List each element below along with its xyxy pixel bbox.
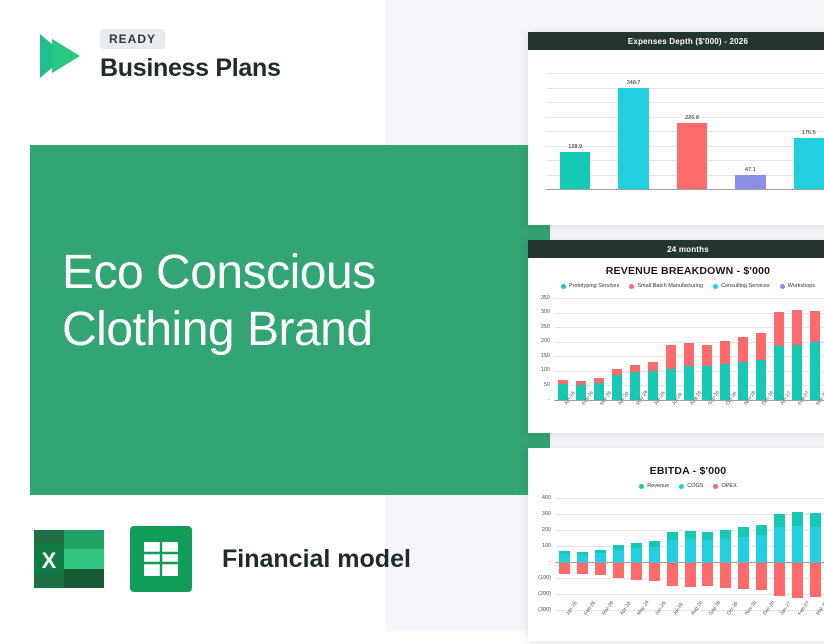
chart3-x-tick: May-26 [636, 599, 650, 616]
chart2-bar-segment [720, 364, 731, 400]
legend-swatch-opex [713, 484, 718, 489]
chart2-y-tick: 50 [528, 382, 550, 388]
chart3-bar-revenue-cap [613, 545, 624, 550]
chart2-y-tick: 200 [528, 338, 550, 344]
chart2-y-tick: 250 [528, 324, 550, 330]
chart2-bar-segment [810, 311, 821, 342]
chart3-y-tick: (300) [528, 607, 551, 613]
chart1-bar [618, 88, 648, 189]
chart3-legend-item: COGS [679, 483, 703, 489]
chart3-bar-negative [667, 562, 678, 586]
legend-swatch-cogs [679, 484, 684, 489]
chart3-bar-revenue-cap [792, 512, 803, 526]
chart1-gridline [546, 102, 824, 103]
chart2-bar-segment [756, 333, 767, 360]
chart1-x-axis [546, 189, 824, 190]
chart3-bar-negative [720, 562, 731, 588]
chart3-bar-negative [685, 562, 696, 587]
svg-text:X: X [42, 548, 57, 573]
chart2-gridline [554, 298, 824, 299]
chart3-x-tick: Apr-26 [619, 601, 633, 617]
chart2-y-tick: 300 [528, 309, 550, 315]
chart3-bar-negative [774, 562, 785, 596]
chart3-y-tick: 400 [528, 495, 551, 501]
chart3-x-tick: Mar-27 [815, 600, 824, 616]
chart2-bar-segment [702, 366, 713, 400]
chart2-bar-segment [684, 343, 695, 366]
chart1-title-bar: Expenses Depth ($'000) - 2026 [528, 32, 824, 50]
chart3-legend-item: OPEX [713, 483, 736, 489]
chart3-plot-area: 400300200100-(100)(200)(300)Jan-26Feb-26… [528, 494, 824, 644]
chart2-bar-segment [774, 312, 785, 346]
chart2-y-tick: 100 [528, 367, 550, 373]
chart3-bar-revenue-cap [774, 514, 785, 528]
footer-row: X Financial model [30, 520, 411, 598]
brand-text-block: READY Business Plans [100, 29, 281, 83]
chart2-bar-segment [720, 341, 731, 364]
chart-card-revenue-breakdown: 24 months REVENUE BREAKDOWN - $'000 Prot… [528, 240, 824, 433]
chart2-legend-label: Workshops [788, 283, 815, 289]
page-title: Eco Conscious Clothing Brand [62, 245, 376, 358]
chart3-bar-revenue-cap [810, 513, 821, 527]
chart2-legend-item: Small Batch Manufacturing [629, 283, 703, 289]
chart3-x-tick: Feb-26 [583, 600, 597, 616]
chart3-x-tick: Jan-27 [779, 600, 793, 616]
chart1-bar [794, 138, 824, 189]
chart2-x-axis [554, 400, 824, 401]
chart-card-expenses-depth: Expenses Depth ($'000) - 2026 128.9348.7… [528, 32, 824, 225]
chart1-plot-area: 128.9348.7226.847.1176.5 [528, 55, 824, 215]
chart1-bar [735, 175, 765, 189]
chart3-legend-label: OPEX [721, 483, 736, 489]
chart3-bar-revenue-cap [685, 531, 696, 540]
chart2-bar-segment [630, 365, 641, 373]
chart1-bar-value: 226.8 [669, 115, 715, 121]
chart3-bar-revenue-cap [702, 532, 713, 540]
chart2-bar-segment [594, 378, 605, 382]
chart3-x-tick: Dec-26 [762, 600, 776, 617]
chart3-gridline [556, 498, 824, 499]
chart3-bar-negative [577, 562, 588, 574]
financial-model-label: Financial model [222, 545, 411, 574]
chart2-bar-segment [738, 337, 749, 362]
chart2-bar-segment [792, 310, 803, 345]
chart1-gridline [546, 88, 824, 89]
chart3-bar-negative [738, 562, 749, 589]
chart2-bar-segment [648, 362, 659, 371]
chart3-x-tick: Mar-26 [601, 600, 615, 616]
chart3-bar-revenue-cap [559, 551, 570, 554]
chart-card-ebitda: EBITDA - $'000 RevenueCOGSOPEX 400300200… [528, 448, 824, 641]
chart3-y-tick: 300 [528, 511, 551, 517]
chart3-bar-negative [559, 562, 570, 574]
chart2-bar-segment [576, 381, 587, 384]
chart2-legend: Prototyping ServicesSmall Batch Manufact… [528, 283, 824, 289]
chart3-bar-revenue-cap [631, 543, 642, 548]
chart2-bar-segment [612, 369, 623, 375]
chart1-bar [560, 152, 590, 189]
chart3-x-tick: Feb-27 [797, 600, 811, 616]
chart3-bar-negative [756, 562, 767, 590]
page-title-line1: Eco Conscious [62, 245, 376, 302]
chart3-x-tick: Jun-26 [654, 600, 668, 616]
play-triangle-icon [30, 28, 86, 84]
chart3-bar-revenue-cap [577, 552, 588, 555]
chart3-bar-revenue-cap [595, 550, 606, 553]
chart3-x-tick: Sep-26 [708, 600, 722, 617]
chart3-x-tick: Aug-26 [690, 600, 704, 617]
chart3-title: EBITDA - $'000 [528, 465, 824, 477]
chart3-bar-negative [810, 562, 821, 597]
chart2-y-tick: 350 [528, 295, 550, 301]
chart2-header-bar: 24 months [528, 240, 824, 258]
chart2-bar-segment [810, 342, 821, 400]
chart3-y-tick: 200 [528, 527, 551, 533]
chart1-bar-value: 348.7 [610, 80, 656, 86]
chart3-x-tick: Jan-26 [565, 600, 579, 616]
chart3-y-tick: (100) [528, 575, 551, 581]
chart1-bar-value: 128.9 [552, 144, 598, 150]
chart3-bar-negative [792, 562, 803, 598]
chart2-bar-segment [558, 380, 569, 383]
chart2-legend-label: Consulting Services [721, 283, 770, 289]
chart1-bar-value: 47.1 [727, 167, 773, 173]
legend-swatch-revenue [639, 484, 644, 489]
chart2-bar-segment [666, 345, 677, 369]
brand-logo-block: READY Business Plans [30, 28, 281, 84]
chart2-legend-item: Consulting Services [713, 283, 770, 289]
chart3-x-tick: Oct-26 [726, 601, 740, 617]
legend-swatch-small-batch-manufacturing [629, 284, 634, 289]
chart2-y-tick: 150 [528, 353, 550, 359]
chart3-legend-label: Revenue [647, 483, 669, 489]
chart2-legend-label: Prototyping Services [569, 283, 619, 289]
chart2-title: REVENUE BREAKDOWN - $'000 [528, 265, 824, 277]
chart2-legend-item: Workshops [780, 283, 815, 289]
chart3-bar-revenue-cap [667, 532, 678, 541]
chart2-bar-segment [792, 345, 803, 400]
chart3-bar-negative [595, 562, 606, 575]
chart3-bar-negative [649, 562, 660, 581]
chart3-legend: RevenueCOGSOPEX [528, 483, 824, 489]
chart3-y-tick: 100 [528, 543, 551, 549]
legend-swatch-consulting-services [713, 284, 718, 289]
chart2-bar-segment [684, 366, 695, 400]
chart3-bar-revenue-cap [738, 527, 749, 537]
chart1-gridline [546, 73, 824, 74]
page-title-line2: Clothing Brand [62, 302, 376, 359]
chart3-bar-negative [613, 562, 624, 578]
brand-name: Business Plans [100, 54, 281, 83]
chart2-bar-segment [756, 360, 767, 400]
chart2-legend-item: Prototyping Services [561, 283, 619, 289]
chart2-bar-segment [738, 362, 749, 400]
ready-badge: READY [100, 29, 165, 49]
chart3-zero-axis [556, 562, 824, 563]
legend-swatch-workshops [780, 284, 785, 289]
chart1-bar [677, 123, 707, 189]
chart3-bar-revenue-cap [649, 541, 660, 547]
excel-file-icon: X [30, 520, 108, 598]
chart3-bar-negative [702, 562, 713, 586]
chart2-bar-segment [702, 345, 713, 365]
chart1-bar-value: 176.5 [786, 130, 824, 136]
chart2-bar-segment [774, 346, 785, 400]
chart3-bar-negative [631, 562, 642, 580]
chart2-plot-area: 35030025020015010050-Jan-26Feb-26Mar-26A… [528, 294, 824, 434]
chart3-legend-label: COGS [687, 483, 703, 489]
chart3-x-tick: Nov-26 [744, 600, 758, 617]
legend-swatch-prototyping-services [561, 284, 566, 289]
chart2-legend-label: Small Batch Manufacturing [637, 283, 703, 289]
chart3-y-tick: (200) [528, 591, 551, 597]
title-card: Eco Conscious Clothing Brand [30, 145, 550, 495]
google-sheets-file-icon [122, 520, 200, 598]
chart3-bar-revenue-cap [756, 525, 767, 535]
chart2-y-tick: - [528, 397, 550, 403]
chart3-legend-item: Revenue [639, 483, 669, 489]
chart3-bar-revenue-cap [720, 530, 731, 539]
chart3-y-tick: - [528, 559, 551, 565]
